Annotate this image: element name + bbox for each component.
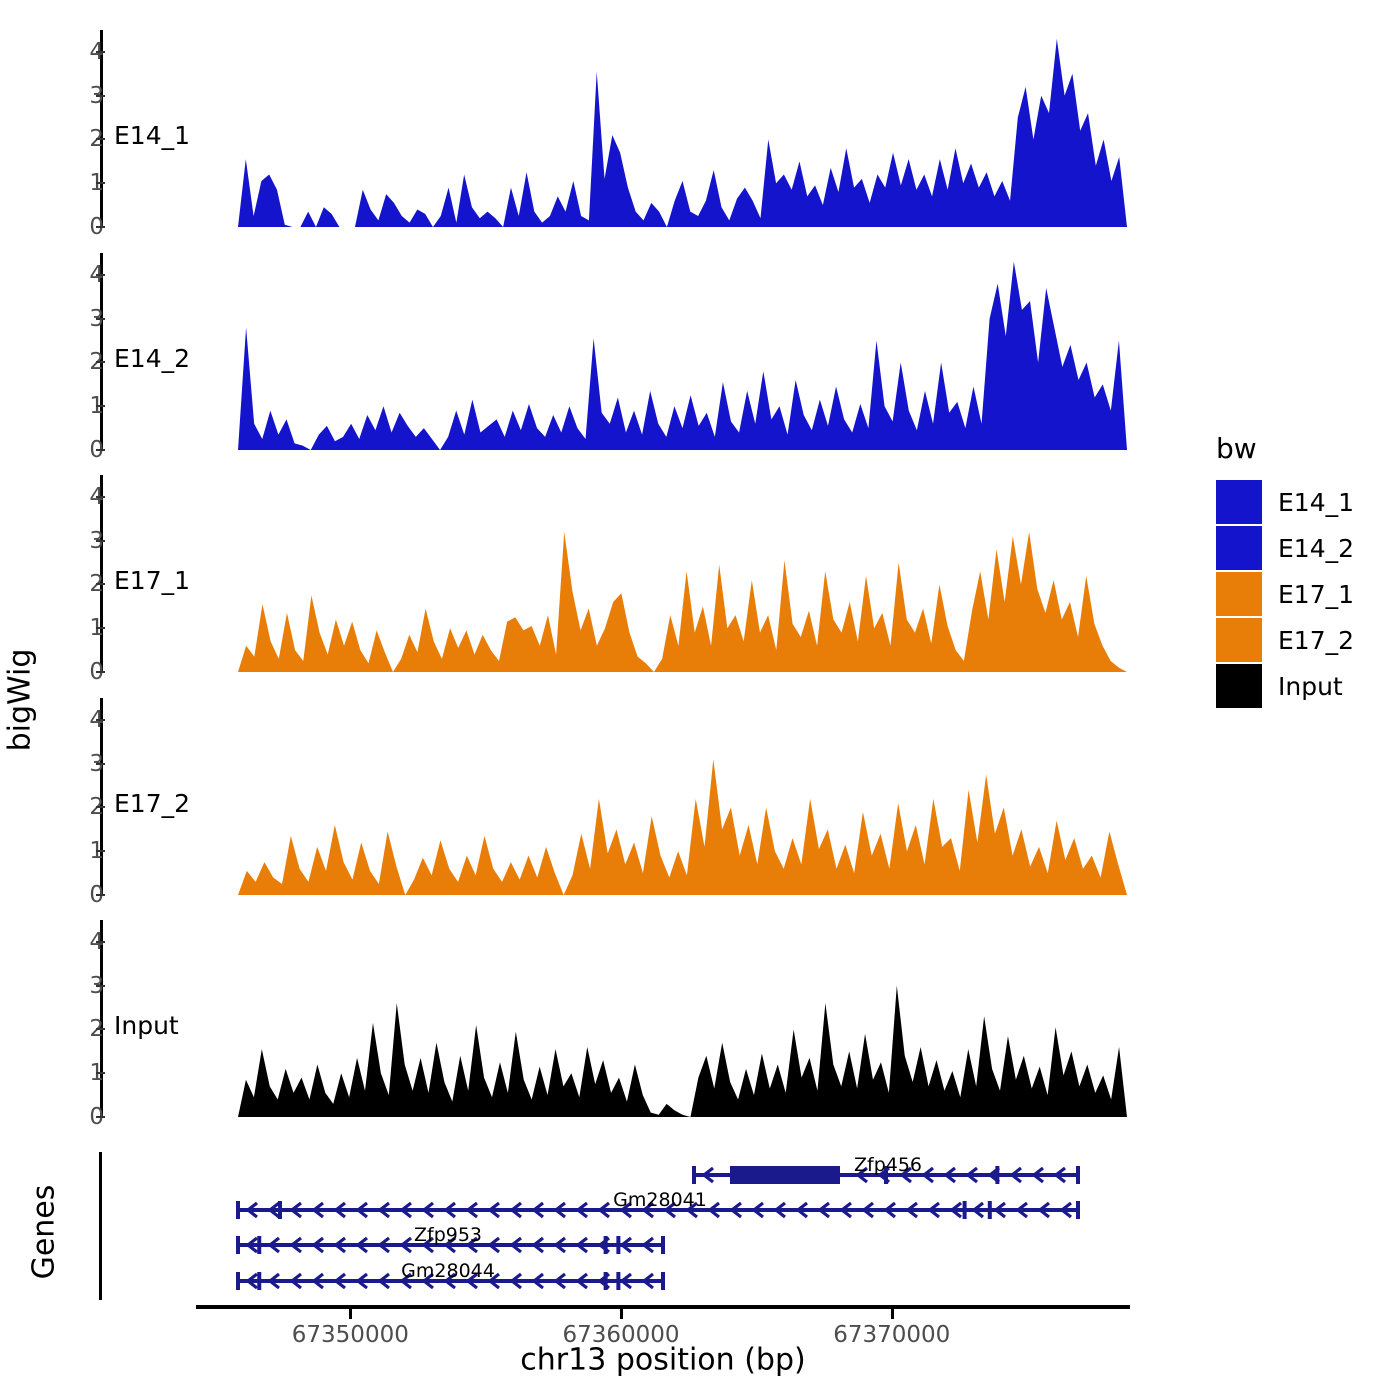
gene-end-cap [236,1236,240,1254]
genome-browser-figure: bigWig Genes chr13 position (bp) 01234E1… [0,0,1400,1400]
gene-label-zfp953: Zfp953 [414,1224,482,1246]
y-tick-mark [96,719,105,721]
genes-axis-title: Genes [27,1185,62,1280]
y-axis-e14_2: 01234 [48,253,104,450]
y-tick-mark [96,405,105,407]
y-axis-e17_1: 01234 [48,475,104,672]
signal-path [238,986,1127,1117]
track-label-e14_1: E14_1 [114,121,190,150]
legend-item-e17_1[interactable]: E17_1 [1216,571,1354,617]
gene-label-gm28044: Gm28044 [401,1260,495,1282]
gene-end-cap [661,1236,665,1254]
gene-exon-tick [257,1236,261,1254]
gene-exon-tick [988,1201,992,1219]
y-tick-mark [96,51,105,53]
x-axis-line [196,1305,1130,1309]
legend-item-input[interactable]: Input [1216,663,1354,709]
x-tick-mark [349,1309,352,1319]
gene-exon-block [730,1166,840,1184]
signal-area-e14_1 [238,30,1127,227]
x-tick-label: 67350000 [292,1322,409,1348]
gene-exon-tick [257,1272,261,1290]
legend-color-swatch [1216,480,1262,524]
legend-label: Input [1278,672,1343,701]
legend-item-e14_1[interactable]: E14_1 [1216,479,1354,525]
legend-color-swatch [1216,572,1262,616]
y-tick-mark [96,850,105,852]
track-label-e17_2: E17_2 [114,789,190,818]
y-axis-e17_2: 01234 [48,698,104,895]
gene-end-cap [692,1166,696,1184]
legend-label: E17_2 [1278,626,1354,655]
gene-end-cap [661,1272,665,1290]
gene-end-cap [236,1272,240,1290]
y-tick-mark [96,894,105,896]
y-tick-mark [96,95,105,97]
gene-exon-tick [963,1201,967,1219]
gene-end-cap [236,1201,240,1219]
y-tick-mark [96,182,105,184]
legend-title: bw [1216,432,1354,465]
signal-path [238,262,1127,450]
track-label-input: Input [114,1011,179,1040]
signal-area-e14_2 [238,253,1127,450]
y-tick-mark [96,1116,105,1118]
gene-label-zfp456: Zfp456 [854,1154,922,1176]
x-tick-mark [891,1309,894,1319]
genes-axis-line [99,1152,102,1300]
y-tick-mark [96,274,105,276]
gene-label-gm28041: Gm28041 [613,1189,707,1211]
track-label-e17_1: E17_1 [114,566,190,595]
legend: bw E14_1E14_2E17_1E17_2Input [1216,432,1354,709]
y-tick-mark [96,1028,105,1030]
y-tick-mark [96,985,105,987]
y-tick-mark [96,1072,105,1074]
signal-path [238,39,1127,227]
y-tick-mark [96,361,105,363]
legend-label: E17_1 [1278,580,1354,609]
y-tick-mark [96,583,105,585]
y-tick-mark [96,226,105,228]
x-tick-mark [620,1309,623,1319]
signal-area-input [238,920,1127,1117]
legend-color-swatch [1216,664,1262,708]
legend-label: E14_2 [1278,534,1354,563]
y-tick-mark [96,540,105,542]
track-label-e14_2: E14_2 [114,344,190,373]
y-tick-mark [96,671,105,673]
legend-color-swatch [1216,526,1262,570]
legend-item-e17_2[interactable]: E17_2 [1216,617,1354,663]
y-tick-mark [96,627,105,629]
x-tick-label: 67370000 [833,1322,950,1348]
y-axis-input: 01234 [48,920,104,1117]
legend-label: E14_1 [1278,488,1354,517]
y-axis-title: bigWig [3,649,38,752]
signal-path [238,532,1127,672]
legend-color-swatch [1216,618,1262,662]
y-tick-mark [96,806,105,808]
x-tick-label: 67360000 [562,1322,679,1348]
gene-end-cap [1076,1166,1080,1184]
y-tick-mark [96,496,105,498]
legend-item-e14_2[interactable]: E14_2 [1216,525,1354,571]
y-tick-mark [96,318,105,320]
signal-path [238,759,1127,895]
y-tick-mark [96,449,105,451]
signal-area-e17_2 [238,698,1127,895]
y-axis-e14_1: 01234 [48,30,104,227]
y-tick-mark [96,941,105,943]
gene-end-cap [1076,1201,1080,1219]
signal-area-e17_1 [238,475,1127,672]
y-tick-mark [96,138,105,140]
y-tick-mark [96,763,105,765]
legend-items: E14_1E14_2E17_1E17_2Input [1216,479,1354,709]
